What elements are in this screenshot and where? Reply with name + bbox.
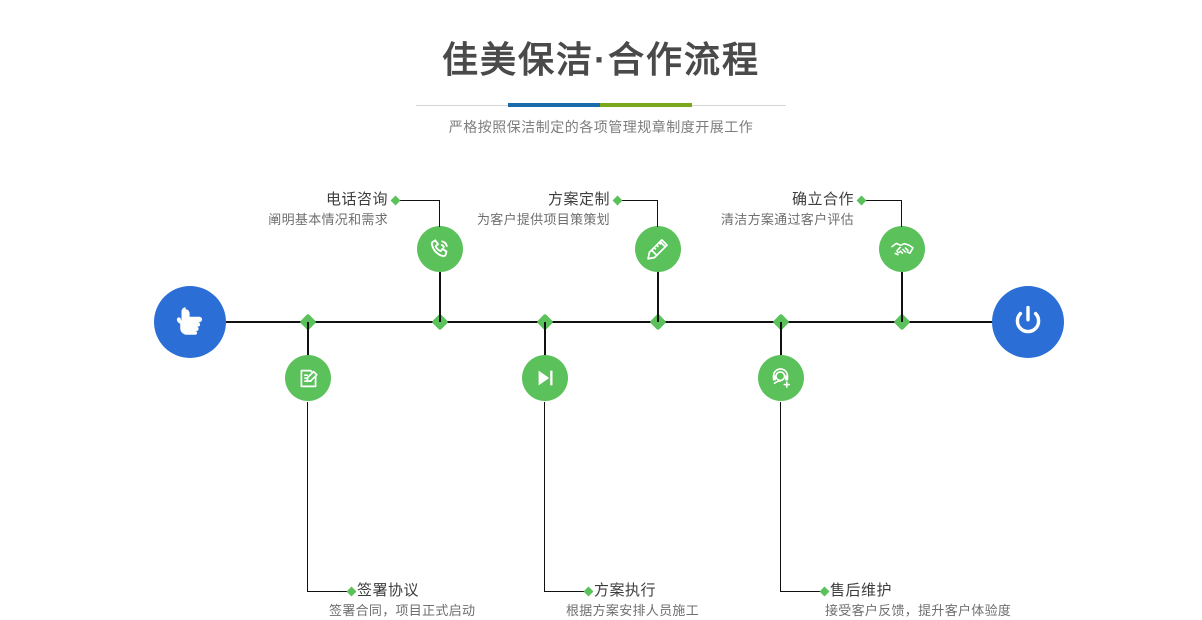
- label-lead-vertical: [901, 200, 902, 227]
- step-icon-bubble[interactable]: [758, 355, 804, 401]
- document-pen-icon: [296, 366, 321, 391]
- customer-service-add-icon: [769, 366, 794, 391]
- step-label: 售后维护 接受客户反馈，提升客户体验度: [830, 581, 1011, 620]
- step-icon-bubble[interactable]: [417, 226, 463, 272]
- step-desc: 接受客户反馈，提升客户体验度: [825, 601, 1011, 620]
- node-stem: [780, 322, 782, 356]
- step-label: 确立合作 清洁方案通过客户评估: [574, 190, 854, 229]
- label-lead-vertical: [780, 402, 781, 591]
- step-title: 确立合作: [574, 190, 854, 210]
- step-desc: 为客户提供项目策策划: [330, 210, 610, 229]
- phone-icon: [427, 236, 453, 262]
- step-desc: 签署合同，项目正式启动: [329, 601, 475, 620]
- step-title: 售后维护: [830, 581, 1011, 601]
- flow-end-marker: [992, 286, 1064, 358]
- label-lead-horizontal: [862, 200, 902, 201]
- label-lead-horizontal: [544, 591, 588, 592]
- cooperation-process-infographic: 佳美保洁·合作流程 严格按照保洁制定的各项管理规章制度开展工作: [0, 0, 1202, 502]
- step-icon-bubble[interactable]: [285, 355, 331, 401]
- label-lead-horizontal: [307, 591, 351, 592]
- node-stem: [439, 272, 441, 322]
- label-tip-diamond: [857, 196, 867, 206]
- label-lead-horizontal: [780, 591, 824, 592]
- step-desc: 清洁方案通过客户评估: [574, 210, 854, 229]
- power-icon: [1008, 302, 1048, 342]
- step-label: 签署协议 签署合同，项目正式启动: [357, 581, 475, 620]
- node-stem: [901, 272, 903, 322]
- label-tip-diamond: [584, 587, 594, 597]
- node-stem: [657, 272, 659, 322]
- header: 佳美保洁·合作流程 严格按照保洁制定的各项管理规章制度开展工作: [0, 0, 1202, 137]
- divider-blue-segment: [508, 103, 600, 107]
- step-title: 方案定制: [330, 190, 610, 210]
- step-icon-bubble[interactable]: [522, 355, 568, 401]
- step-icon-bubble[interactable]: [879, 226, 925, 272]
- label-lead-vertical: [544, 402, 545, 591]
- step-label: 方案定制 为客户提供项目策策划: [330, 190, 610, 229]
- page-title: 佳美保洁·合作流程: [0, 0, 1202, 81]
- pencil-ruler-icon: [645, 236, 671, 262]
- play-skip-icon: [533, 366, 557, 390]
- label-tip-diamond: [820, 587, 830, 597]
- step-icon-bubble[interactable]: [635, 226, 681, 272]
- label-tip-diamond: [347, 587, 357, 597]
- pointing-hand-icon: [171, 303, 209, 341]
- page-subtitle: 严格按照保洁制定的各项管理规章制度开展工作: [0, 117, 1202, 137]
- handshake-icon: [889, 236, 916, 263]
- step-desc: 根据方案安排人员施工: [566, 601, 699, 620]
- divider-green-segment: [600, 103, 692, 107]
- node-stem: [307, 322, 309, 356]
- title-divider: [416, 103, 786, 107]
- step-label: 方案执行 根据方案安排人员施工: [594, 581, 699, 620]
- timeline-diagram: 电话咨询 阐明基本情况和需求 签署协议: [0, 150, 1202, 502]
- flow-start-marker: [154, 286, 226, 358]
- step-title: 签署协议: [357, 581, 475, 601]
- label-lead-vertical: [307, 402, 308, 591]
- step-title: 方案执行: [594, 581, 699, 601]
- node-stem: [544, 322, 546, 356]
